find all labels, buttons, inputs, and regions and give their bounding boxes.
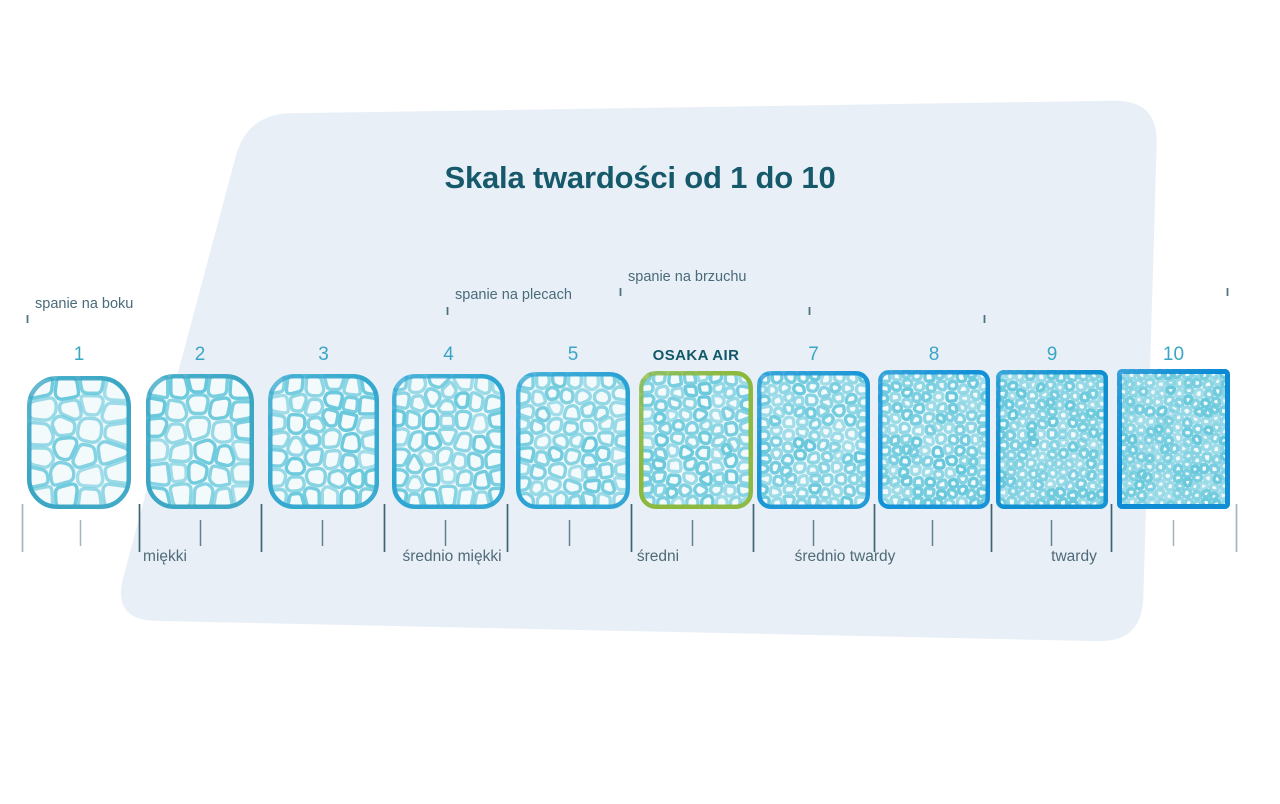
category-label-twardy: twardy [924, 548, 1224, 566]
hardness-axis [0, 0, 1280, 804]
hardness-scale-infographic: Skala twardości od 1 do 10 spanie na bok… [0, 0, 1280, 804]
category-label-miekki: miękki [15, 548, 315, 566]
